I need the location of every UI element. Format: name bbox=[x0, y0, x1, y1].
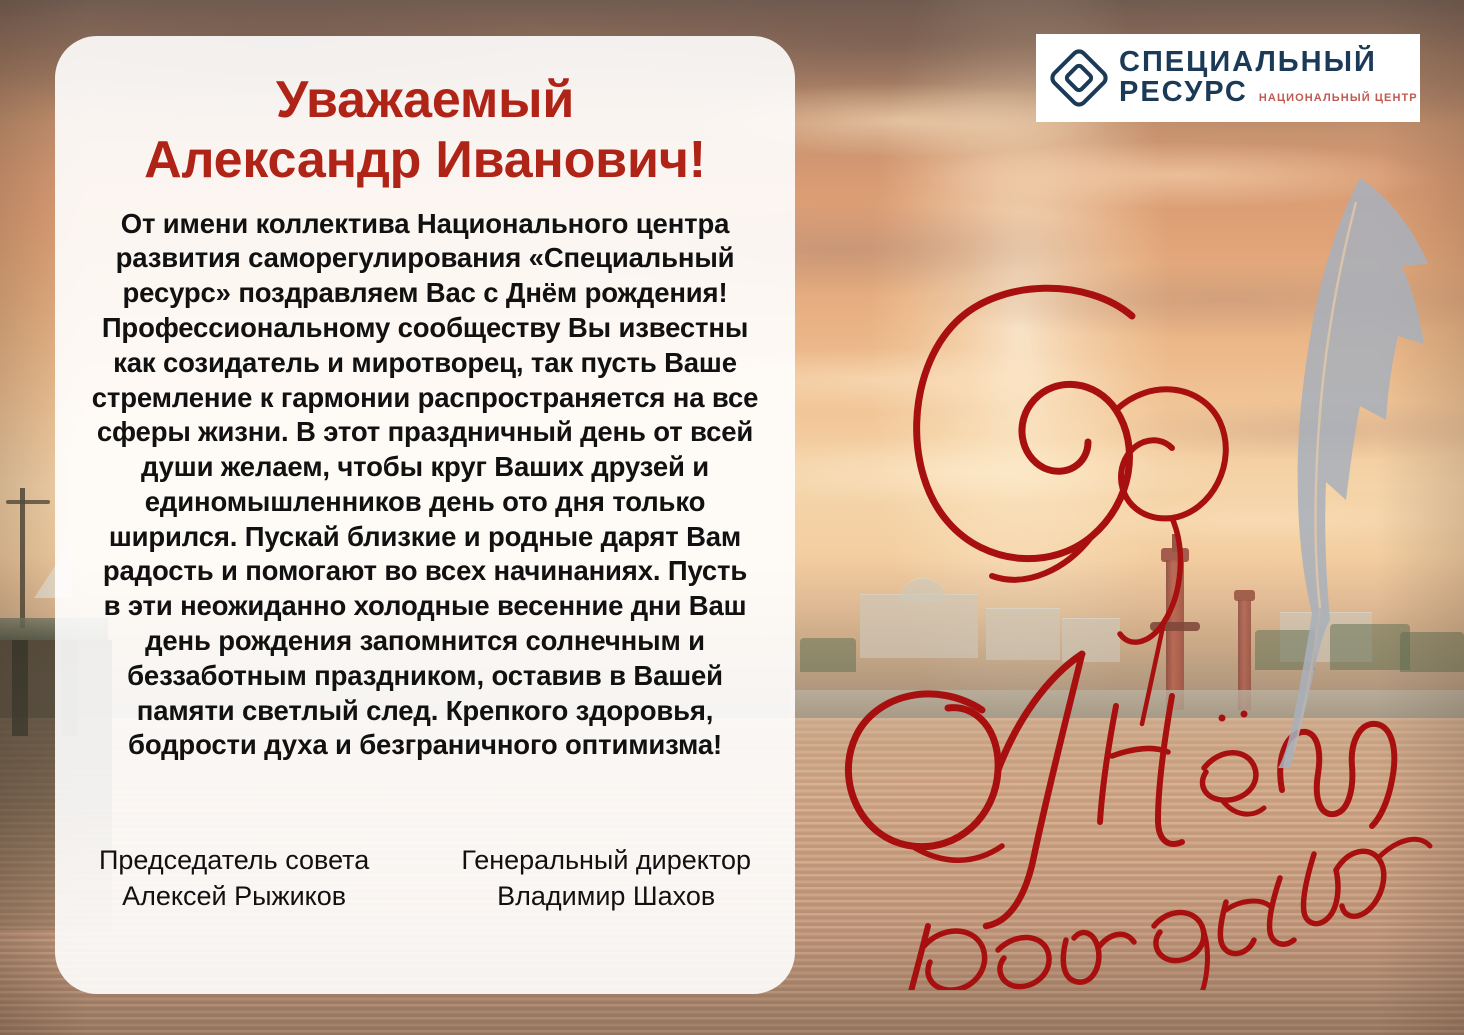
logo-line-2: РЕСУРС bbox=[1119, 78, 1248, 108]
greeting-heading: Уважаемый Александр Иванович! bbox=[85, 70, 765, 191]
signature-director: Генеральный директор Владимир Шахов bbox=[461, 842, 751, 914]
logo-badge: СПЕЦИАЛЬНЫЙ РЕСУРС НАЦИОНАЛЬНЫЙ ЦЕНТР bbox=[1036, 34, 1420, 122]
signature-role: Председатель совета bbox=[99, 842, 369, 878]
logo-line-1: СПЕЦИАЛЬНЫЙ bbox=[1119, 48, 1418, 78]
logo-wordmark: СПЕЦИАЛЬНЫЙ РЕСУРС НАЦИОНАЛЬНЫЙ ЦЕНТР bbox=[1119, 48, 1418, 107]
diamond-in-diamond-icon bbox=[1050, 49, 1108, 107]
signature-name: Владимир Шахов bbox=[461, 878, 751, 914]
signature-chairman: Председатель совета Алексей Рыжиков bbox=[99, 842, 369, 914]
message-card: Уважаемый Александр Иванович! От имени к… bbox=[55, 36, 795, 994]
greeting-heading-line1: Уважаемый bbox=[85, 70, 765, 130]
signature-role: Генеральный директор bbox=[461, 842, 751, 878]
greeting-body-text: От имени коллектива Национального центра… bbox=[85, 207, 765, 764]
greeting-card-stage: С Днём рождения bbox=[0, 0, 1464, 1035]
signature-block: Председатель совета Алексей Рыжиков Гене… bbox=[85, 842, 765, 984]
greeting-heading-line2: Александр Иванович! bbox=[85, 130, 765, 190]
logo-subtitle: НАЦИОНАЛЬНЫЙ ЦЕНТР bbox=[1259, 92, 1418, 104]
signature-name: Алексей Рыжиков bbox=[99, 878, 369, 914]
